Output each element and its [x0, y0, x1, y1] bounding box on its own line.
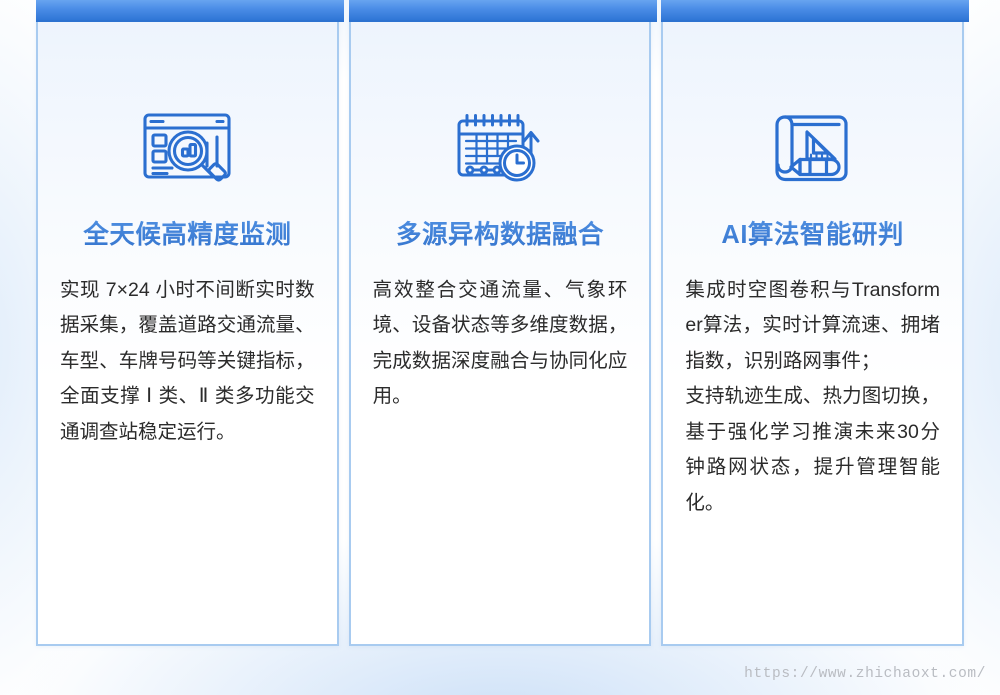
card-title: 多源异构数据融合 — [396, 220, 604, 251]
card-description: 集成时空图卷积与Transformer算法，实时计算流速、拥堵指数，识别路网事件… — [685, 273, 940, 521]
watermark-url: https://www.zhichaoxt.com/ — [744, 666, 986, 682]
feature-card-ai-analysis: AI算法智能研判 集成时空图卷积与Transformer算法，实时计算流速、拥堵… — [661, 14, 964, 646]
card-paragraph: 支持轨迹生成、热力图切换，基于强化学习推演未来30分钟路网状态，提升管理智能化。 — [685, 379, 940, 521]
feature-cards-row: 全天候高精度监测 实现 7×24 小时不间断实时数据采集，覆盖道路交通流量、车型… — [0, 0, 1000, 695]
card-description: 实现 7×24 小时不间断实时数据采集，覆盖道路交通流量、车型、车牌号码等关键指… — [60, 273, 315, 450]
card-paragraph: 实现 7×24 小时不间断实时数据采集，覆盖道路交通流量、车型、车牌号码等关键指… — [60, 273, 315, 450]
card-paragraph: 集成时空图卷积与Transformer算法，实时计算流速、拥堵指数，识别路网事件… — [685, 273, 940, 379]
card-content: 全天候高精度监测 实现 7×24 小时不间断实时数据采集，覆盖道路交通流量、车型… — [38, 14, 337, 450]
card-paragraph: 高效整合交通流量、气象环境、设备状态等多维度数据，完成数据深度融合与协同化应用。 — [373, 273, 628, 415]
card-title: AI算法智能研判 — [721, 220, 904, 251]
card-title: 全天候高精度监测 — [83, 220, 291, 251]
feature-card-monitoring: 全天候高精度监测 实现 7×24 小时不间断实时数据采集，覆盖道路交通流量、车型… — [36, 14, 339, 646]
card-description: 高效整合交通流量、气象环境、设备状态等多维度数据，完成数据深度融合与协同化应用。 — [373, 273, 628, 415]
card-content: AI算法智能研判 集成时空图卷积与Transformer算法，实时计算流速、拥堵… — [663, 14, 962, 521]
monitor-search-chart-icon — [141, 100, 233, 196]
calendar-clock-trend-icon — [454, 100, 546, 196]
feature-card-data-fusion: 多源异构数据融合 高效整合交通流量、气象环境、设备状态等多维度数据，完成数据深度… — [349, 14, 652, 646]
card-content: 多源异构数据融合 高效整合交通流量、气象环境、设备状态等多维度数据，完成数据深度… — [351, 14, 650, 415]
blueprint-ruler-pencil-icon — [769, 100, 857, 196]
